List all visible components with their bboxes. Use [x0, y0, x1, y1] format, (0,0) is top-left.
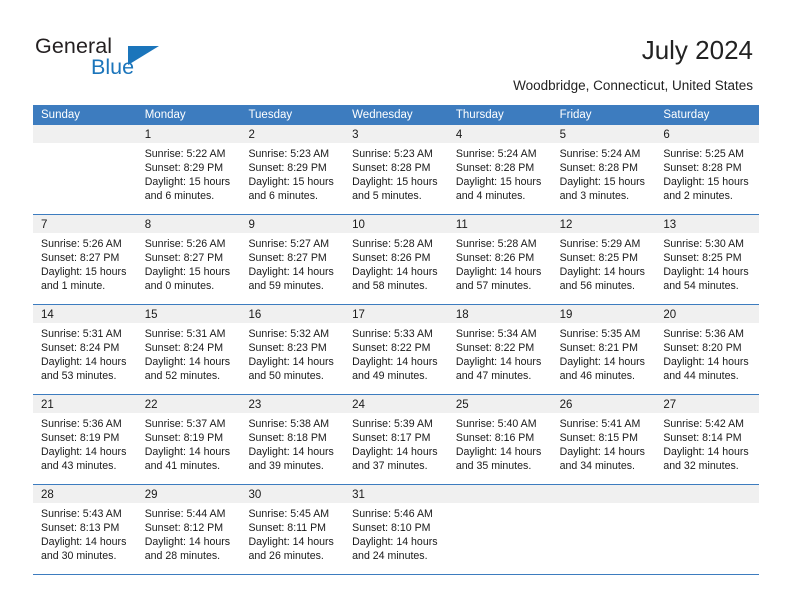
day-detail-line: Sunset: 8:22 PM [352, 341, 442, 355]
day-number: 10 [352, 219, 365, 231]
day-detail-line: and 46 minutes. [560, 369, 650, 383]
day-detail-line: Sunrise: 5:45 AM [248, 507, 338, 521]
day-number-strip: 14 [33, 305, 137, 323]
day-detail-line: and 0 minutes. [145, 279, 235, 293]
day-details: Sunrise: 5:37 AMSunset: 8:19 PMDaylight:… [137, 413, 241, 473]
day-number: 5 [560, 129, 566, 141]
day-details: Sunrise: 5:31 AMSunset: 8:24 PMDaylight:… [137, 323, 241, 383]
day-detail-line: Daylight: 14 hours [248, 265, 338, 279]
day-detail-line: Daylight: 14 hours [145, 535, 235, 549]
day-detail-line: Sunrise: 5:42 AM [663, 417, 753, 431]
day-details: Sunrise: 5:38 AMSunset: 8:18 PMDaylight:… [240, 413, 344, 473]
day-detail-line: Sunset: 8:18 PM [248, 431, 338, 445]
day-detail-line: and 41 minutes. [145, 459, 235, 473]
day-number-strip: 27 [655, 395, 759, 413]
day-details: Sunrise: 5:23 AMSunset: 8:29 PMDaylight:… [240, 143, 344, 203]
day-detail-line: Sunrise: 5:27 AM [248, 237, 338, 251]
day-detail-line: Daylight: 14 hours [560, 265, 650, 279]
calendar-week-row: 14Sunrise: 5:31 AMSunset: 8:24 PMDayligh… [33, 305, 759, 395]
calendar-day-cell[interactable]: 15Sunrise: 5:31 AMSunset: 8:24 PMDayligh… [137, 305, 241, 394]
day-number: 2 [248, 129, 254, 141]
day-details: Sunrise: 5:28 AMSunset: 8:26 PMDaylight:… [344, 233, 448, 293]
day-details: Sunrise: 5:43 AMSunset: 8:13 PMDaylight:… [33, 503, 137, 563]
calendar-day-cell[interactable]: 13Sunrise: 5:30 AMSunset: 8:25 PMDayligh… [655, 215, 759, 304]
day-number: 30 [248, 489, 261, 501]
day-detail-line: and 59 minutes. [248, 279, 338, 293]
calendar-day-cell[interactable]: 17Sunrise: 5:33 AMSunset: 8:22 PMDayligh… [344, 305, 448, 394]
day-detail-line: and 52 minutes. [145, 369, 235, 383]
day-details: Sunrise: 5:27 AMSunset: 8:27 PMDaylight:… [240, 233, 344, 293]
day-number-strip: 12 [552, 215, 656, 233]
day-detail-line: Sunset: 8:19 PM [145, 431, 235, 445]
day-detail-line: Sunrise: 5:41 AM [560, 417, 650, 431]
day-detail-line: Sunrise: 5:35 AM [560, 327, 650, 341]
day-number: 18 [456, 309, 469, 321]
calendar-day-cell[interactable]: 16Sunrise: 5:32 AMSunset: 8:23 PMDayligh… [240, 305, 344, 394]
day-detail-line: Daylight: 14 hours [560, 445, 650, 459]
day-number-strip: 4 [448, 125, 552, 143]
day-details: Sunrise: 5:26 AMSunset: 8:27 PMDaylight:… [137, 233, 241, 293]
day-detail-line: Daylight: 14 hours [248, 535, 338, 549]
day-detail-line: Daylight: 14 hours [663, 445, 753, 459]
day-details: Sunrise: 5:36 AMSunset: 8:20 PMDaylight:… [655, 323, 759, 383]
day-number-strip: 24 [344, 395, 448, 413]
day-details: Sunrise: 5:39 AMSunset: 8:17 PMDaylight:… [344, 413, 448, 473]
day-details: Sunrise: 5:46 AMSunset: 8:10 PMDaylight:… [344, 503, 448, 563]
day-number: 8 [145, 219, 151, 231]
day-detail-line: and 6 minutes. [145, 189, 235, 203]
calendar-day-cell[interactable]: 8Sunrise: 5:26 AMSunset: 8:27 PMDaylight… [137, 215, 241, 304]
calendar-week-row: 7Sunrise: 5:26 AMSunset: 8:27 PMDaylight… [33, 215, 759, 305]
day-number-strip: 28 [33, 485, 137, 503]
day-details: Sunrise: 5:31 AMSunset: 8:24 PMDaylight:… [33, 323, 137, 383]
day-detail-line: Sunset: 8:23 PM [248, 341, 338, 355]
day-detail-line: Daylight: 15 hours [560, 175, 650, 189]
calendar-day-cell[interactable]: 10Sunrise: 5:28 AMSunset: 8:26 PMDayligh… [344, 215, 448, 304]
day-number-strip: 15 [137, 305, 241, 323]
day-details: Sunrise: 5:22 AMSunset: 8:29 PMDaylight:… [137, 143, 241, 203]
calendar-day-cell[interactable]: 18Sunrise: 5:34 AMSunset: 8:22 PMDayligh… [448, 305, 552, 394]
day-detail-line: Sunrise: 5:37 AM [145, 417, 235, 431]
day-detail-line: and 56 minutes. [560, 279, 650, 293]
day-detail-line: Sunrise: 5:44 AM [145, 507, 235, 521]
day-detail-line: and 3 minutes. [560, 189, 650, 203]
day-detail-line: Sunrise: 5:24 AM [456, 147, 546, 161]
day-detail-line: Sunrise: 5:29 AM [560, 237, 650, 251]
calendar-day-cell[interactable]: 2Sunrise: 5:23 AMSunset: 8:29 PMDaylight… [240, 125, 344, 214]
day-detail-line: Daylight: 14 hours [145, 355, 235, 369]
day-detail-line: Sunset: 8:28 PM [456, 161, 546, 175]
day-number: 14 [41, 309, 54, 321]
day-number-strip: 3 [344, 125, 448, 143]
day-detail-line: Sunset: 8:26 PM [352, 251, 442, 265]
day-detail-line: Sunset: 8:19 PM [41, 431, 131, 445]
day-detail-line: Sunrise: 5:36 AM [41, 417, 131, 431]
day-number-strip: 19 [552, 305, 656, 323]
calendar-weeks: 1Sunrise: 5:22 AMSunset: 8:29 PMDaylight… [33, 125, 759, 575]
calendar-day-cell[interactable]: 21Sunrise: 5:36 AMSunset: 8:19 PMDayligh… [33, 395, 137, 484]
day-number: 23 [248, 399, 261, 411]
day-details: Sunrise: 5:36 AMSunset: 8:19 PMDaylight:… [33, 413, 137, 473]
day-detail-line: and 32 minutes. [663, 459, 753, 473]
day-detail-line: Sunset: 8:28 PM [352, 161, 442, 175]
day-detail-line: Sunset: 8:25 PM [663, 251, 753, 265]
calendar-week-row: 28Sunrise: 5:43 AMSunset: 8:13 PMDayligh… [33, 485, 759, 575]
day-number-strip: 2 [240, 125, 344, 143]
day-number: 11 [456, 219, 468, 231]
day-detail-line: Sunrise: 5:36 AM [663, 327, 753, 341]
weekday-header-monday: Monday [137, 105, 241, 125]
day-detail-line: Sunset: 8:10 PM [352, 521, 442, 535]
calendar-day-cell[interactable]: 11Sunrise: 5:28 AMSunset: 8:26 PMDayligh… [448, 215, 552, 304]
day-number: 31 [352, 489, 365, 501]
day-detail-line: and 58 minutes. [352, 279, 442, 293]
day-detail-line: Sunrise: 5:40 AM [456, 417, 546, 431]
day-details: Sunrise: 5:42 AMSunset: 8:14 PMDaylight:… [655, 413, 759, 473]
day-number: 13 [663, 219, 676, 231]
day-details: Sunrise: 5:41 AMSunset: 8:15 PMDaylight:… [552, 413, 656, 473]
day-number: 20 [663, 309, 676, 321]
day-details: Sunrise: 5:24 AMSunset: 8:28 PMDaylight:… [552, 143, 656, 203]
day-number-strip: 21 [33, 395, 137, 413]
day-number: 26 [560, 399, 573, 411]
calendar-day-cell[interactable]: 3Sunrise: 5:23 AMSunset: 8:28 PMDaylight… [344, 125, 448, 214]
calendar-day-cell[interactable]: 27Sunrise: 5:42 AMSunset: 8:14 PMDayligh… [655, 395, 759, 484]
day-number-strip: 18 [448, 305, 552, 323]
location-subtitle: Woodbridge, Connecticut, United States [513, 78, 753, 93]
day-details [655, 503, 759, 507]
day-detail-line: Sunset: 8:29 PM [145, 161, 235, 175]
day-number: 4 [456, 129, 462, 141]
day-number: 28 [41, 489, 54, 501]
calendar-day-cell[interactable]: 20Sunrise: 5:36 AMSunset: 8:20 PMDayligh… [655, 305, 759, 394]
day-number-strip [33, 125, 137, 143]
day-detail-line: Sunset: 8:16 PM [456, 431, 546, 445]
calendar-day-cell-empty [655, 485, 759, 574]
day-number-strip: 23 [240, 395, 344, 413]
weekday-header-wednesday: Wednesday [344, 105, 448, 125]
calendar-day-cell-empty [33, 125, 137, 214]
day-number-strip: 17 [344, 305, 448, 323]
day-number: 9 [248, 219, 254, 231]
day-detail-line: Sunset: 8:13 PM [41, 521, 131, 535]
day-detail-line: Daylight: 14 hours [456, 445, 546, 459]
day-detail-line: Sunrise: 5:24 AM [560, 147, 650, 161]
day-number-strip [552, 485, 656, 503]
day-detail-line: Daylight: 14 hours [456, 265, 546, 279]
day-number-strip: 1 [137, 125, 241, 143]
day-detail-line: Daylight: 14 hours [248, 445, 338, 459]
day-detail-line: Sunrise: 5:26 AM [145, 237, 235, 251]
day-detail-line: Sunrise: 5:31 AM [145, 327, 235, 341]
day-detail-line: Sunrise: 5:46 AM [352, 507, 442, 521]
calendar-week-row: 21Sunrise: 5:36 AMSunset: 8:19 PMDayligh… [33, 395, 759, 485]
day-number-strip: 7 [33, 215, 137, 233]
day-number-strip: 30 [240, 485, 344, 503]
day-detail-line: Sunrise: 5:25 AM [663, 147, 753, 161]
day-detail-line: Sunset: 8:25 PM [560, 251, 650, 265]
day-number-strip: 13 [655, 215, 759, 233]
day-detail-line: Sunset: 8:14 PM [663, 431, 753, 445]
calendar-day-cell[interactable]: 23Sunrise: 5:38 AMSunset: 8:18 PMDayligh… [240, 395, 344, 484]
logo-text-blue: Blue [91, 55, 134, 80]
day-detail-line: Daylight: 14 hours [145, 445, 235, 459]
weekday-header-thursday: Thursday [448, 105, 552, 125]
day-detail-line: Sunset: 8:26 PM [456, 251, 546, 265]
calendar-day-cell[interactable]: 30Sunrise: 5:45 AMSunset: 8:11 PMDayligh… [240, 485, 344, 574]
day-details: Sunrise: 5:44 AMSunset: 8:12 PMDaylight:… [137, 503, 241, 563]
day-details [552, 503, 656, 507]
day-number-strip: 11 [448, 215, 552, 233]
day-detail-line: Daylight: 15 hours [145, 175, 235, 189]
day-detail-line: Daylight: 14 hours [352, 265, 442, 279]
day-detail-line: Sunrise: 5:22 AM [145, 147, 235, 161]
day-detail-line: Sunset: 8:12 PM [145, 521, 235, 535]
calendar-day-cell[interactable]: 26Sunrise: 5:41 AMSunset: 8:15 PMDayligh… [552, 395, 656, 484]
weekday-header-friday: Friday [552, 105, 656, 125]
day-number: 17 [352, 309, 365, 321]
day-detail-line: and 39 minutes. [248, 459, 338, 473]
day-details: Sunrise: 5:34 AMSunset: 8:22 PMDaylight:… [448, 323, 552, 383]
day-details: Sunrise: 5:24 AMSunset: 8:28 PMDaylight:… [448, 143, 552, 203]
day-number: 3 [352, 129, 358, 141]
day-number: 7 [41, 219, 47, 231]
day-number-strip [655, 485, 759, 503]
day-details [448, 503, 552, 507]
day-detail-line: and 50 minutes. [248, 369, 338, 383]
page-title: July 2024 [642, 35, 753, 66]
day-detail-line: Daylight: 14 hours [41, 355, 131, 369]
day-number: 25 [456, 399, 469, 411]
day-detail-line: and 53 minutes. [41, 369, 131, 383]
day-detail-line: Sunrise: 5:26 AM [41, 237, 131, 251]
calendar-day-cell[interactable]: 9Sunrise: 5:27 AMSunset: 8:27 PMDaylight… [240, 215, 344, 304]
logo[interactable]: General Blue [35, 34, 215, 86]
calendar-day-cell[interactable]: 29Sunrise: 5:44 AMSunset: 8:12 PMDayligh… [137, 485, 241, 574]
day-detail-line: and 30 minutes. [41, 549, 131, 563]
day-number: 1 [145, 129, 151, 141]
day-detail-line: Sunrise: 5:33 AM [352, 327, 442, 341]
day-detail-line: Daylight: 15 hours [248, 175, 338, 189]
day-details: Sunrise: 5:30 AMSunset: 8:25 PMDaylight:… [655, 233, 759, 293]
day-details: Sunrise: 5:28 AMSunset: 8:26 PMDaylight:… [448, 233, 552, 293]
day-detail-line: Daylight: 14 hours [41, 445, 131, 459]
calendar-day-cell[interactable]: 24Sunrise: 5:39 AMSunset: 8:17 PMDayligh… [344, 395, 448, 484]
weekday-header-tuesday: Tuesday [240, 105, 344, 125]
weekday-header-sunday: Sunday [33, 105, 137, 125]
day-number-strip: 29 [137, 485, 241, 503]
day-detail-line: and 44 minutes. [663, 369, 753, 383]
day-number-strip [448, 485, 552, 503]
day-number: 27 [663, 399, 676, 411]
day-number: 21 [41, 399, 54, 411]
calendar-day-cell[interactable]: 7Sunrise: 5:26 AMSunset: 8:27 PMDaylight… [33, 215, 137, 304]
day-detail-line: Daylight: 15 hours [145, 265, 235, 279]
day-number: 16 [248, 309, 261, 321]
calendar-grid: SundayMondayTuesdayWednesdayThursdayFrid… [33, 105, 759, 575]
calendar-day-cell[interactable]: 28Sunrise: 5:43 AMSunset: 8:13 PMDayligh… [33, 485, 137, 574]
day-detail-line: Sunrise: 5:30 AM [663, 237, 753, 251]
day-number: 12 [560, 219, 573, 231]
day-detail-line: Daylight: 14 hours [456, 355, 546, 369]
day-number-strip: 16 [240, 305, 344, 323]
day-number-strip: 6 [655, 125, 759, 143]
day-number-strip: 8 [137, 215, 241, 233]
day-number-strip: 22 [137, 395, 241, 413]
day-detail-line: Sunset: 8:17 PM [352, 431, 442, 445]
day-detail-line: Daylight: 15 hours [352, 175, 442, 189]
day-details: Sunrise: 5:23 AMSunset: 8:28 PMDaylight:… [344, 143, 448, 203]
day-detail-line: and 37 minutes. [352, 459, 442, 473]
calendar-day-cell-empty [552, 485, 656, 574]
page-header: General Blue July 2024 Woodbridge, Conne… [0, 0, 792, 100]
calendar-day-cell[interactable]: 22Sunrise: 5:37 AMSunset: 8:19 PMDayligh… [137, 395, 241, 484]
weekday-header-saturday: Saturday [655, 105, 759, 125]
day-detail-line: Daylight: 14 hours [560, 355, 650, 369]
calendar-day-cell[interactable]: 31Sunrise: 5:46 AMSunset: 8:10 PMDayligh… [344, 485, 448, 574]
day-detail-line: Daylight: 14 hours [663, 355, 753, 369]
calendar-day-cell[interactable]: 25Sunrise: 5:40 AMSunset: 8:16 PMDayligh… [448, 395, 552, 484]
day-details: Sunrise: 5:40 AMSunset: 8:16 PMDaylight:… [448, 413, 552, 473]
day-number: 22 [145, 399, 158, 411]
calendar-day-cell[interactable]: 4Sunrise: 5:24 AMSunset: 8:28 PMDaylight… [448, 125, 552, 214]
day-detail-line: Sunset: 8:20 PM [663, 341, 753, 355]
day-detail-line: and 4 minutes. [456, 189, 546, 203]
day-detail-line: Sunrise: 5:31 AM [41, 327, 131, 341]
day-details: Sunrise: 5:45 AMSunset: 8:11 PMDaylight:… [240, 503, 344, 563]
day-detail-line: Daylight: 14 hours [248, 355, 338, 369]
day-detail-line: Daylight: 14 hours [352, 535, 442, 549]
calendar-day-cell[interactable]: 1Sunrise: 5:22 AMSunset: 8:29 PMDaylight… [137, 125, 241, 214]
day-detail-line: Sunset: 8:24 PM [41, 341, 131, 355]
day-details: Sunrise: 5:25 AMSunset: 8:28 PMDaylight:… [655, 143, 759, 203]
day-detail-line: Sunset: 8:11 PM [248, 521, 338, 535]
weekday-header-row: SundayMondayTuesdayWednesdayThursdayFrid… [33, 105, 759, 125]
day-number-strip: 20 [655, 305, 759, 323]
day-number: 15 [145, 309, 158, 321]
calendar-page: General Blue July 2024 Woodbridge, Conne… [0, 0, 792, 612]
day-detail-line: Sunset: 8:24 PM [145, 341, 235, 355]
day-detail-line: Sunset: 8:28 PM [663, 161, 753, 175]
day-detail-line: Daylight: 14 hours [352, 355, 442, 369]
day-detail-line: and 26 minutes. [248, 549, 338, 563]
calendar-day-cell-empty [448, 485, 552, 574]
day-detail-line: and 35 minutes. [456, 459, 546, 473]
day-detail-line: Daylight: 15 hours [456, 175, 546, 189]
calendar-day-cell[interactable]: 19Sunrise: 5:35 AMSunset: 8:21 PMDayligh… [552, 305, 656, 394]
day-detail-line: Sunrise: 5:28 AM [456, 237, 546, 251]
day-detail-line: Sunset: 8:28 PM [560, 161, 650, 175]
day-detail-line: and 28 minutes. [145, 549, 235, 563]
day-detail-line: Sunset: 8:27 PM [248, 251, 338, 265]
day-detail-line: and 6 minutes. [248, 189, 338, 203]
day-number: 24 [352, 399, 365, 411]
day-details [33, 143, 137, 147]
day-number: 6 [663, 129, 669, 141]
day-detail-line: Sunrise: 5:43 AM [41, 507, 131, 521]
day-detail-line: Sunrise: 5:28 AM [352, 237, 442, 251]
day-detail-line: and 57 minutes. [456, 279, 546, 293]
day-detail-line: Sunrise: 5:23 AM [352, 147, 442, 161]
day-detail-line: Sunset: 8:29 PM [248, 161, 338, 175]
day-detail-line: Sunrise: 5:32 AM [248, 327, 338, 341]
day-detail-line: and 47 minutes. [456, 369, 546, 383]
day-detail-line: Daylight: 15 hours [41, 265, 131, 279]
day-detail-line: Daylight: 14 hours [352, 445, 442, 459]
day-number-strip: 25 [448, 395, 552, 413]
calendar-day-cell[interactable]: 6Sunrise: 5:25 AMSunset: 8:28 PMDaylight… [655, 125, 759, 214]
calendar-day-cell[interactable]: 5Sunrise: 5:24 AMSunset: 8:28 PMDaylight… [552, 125, 656, 214]
day-detail-line: Sunset: 8:21 PM [560, 341, 650, 355]
day-details: Sunrise: 5:32 AMSunset: 8:23 PMDaylight:… [240, 323, 344, 383]
day-detail-line: and 54 minutes. [663, 279, 753, 293]
day-detail-line: and 1 minute. [41, 279, 131, 293]
day-detail-line: Daylight: 14 hours [41, 535, 131, 549]
day-detail-line: and 24 minutes. [352, 549, 442, 563]
calendar-week-row: 1Sunrise: 5:22 AMSunset: 8:29 PMDaylight… [33, 125, 759, 215]
day-number-strip: 10 [344, 215, 448, 233]
day-detail-line: Sunset: 8:15 PM [560, 431, 650, 445]
day-details: Sunrise: 5:35 AMSunset: 8:21 PMDaylight:… [552, 323, 656, 383]
day-number-strip: 5 [552, 125, 656, 143]
day-details: Sunrise: 5:33 AMSunset: 8:22 PMDaylight:… [344, 323, 448, 383]
day-detail-line: Sunrise: 5:38 AM [248, 417, 338, 431]
day-number-strip: 31 [344, 485, 448, 503]
calendar-day-cell[interactable]: 14Sunrise: 5:31 AMSunset: 8:24 PMDayligh… [33, 305, 137, 394]
day-detail-line: and 34 minutes. [560, 459, 650, 473]
day-detail-line: and 5 minutes. [352, 189, 442, 203]
day-detail-line: Sunset: 8:22 PM [456, 341, 546, 355]
day-detail-line: Sunset: 8:27 PM [145, 251, 235, 265]
day-detail-line: and 2 minutes. [663, 189, 753, 203]
calendar-day-cell[interactable]: 12Sunrise: 5:29 AMSunset: 8:25 PMDayligh… [552, 215, 656, 304]
day-number: 29 [145, 489, 158, 501]
day-detail-line: Daylight: 15 hours [663, 175, 753, 189]
day-detail-line: Sunrise: 5:39 AM [352, 417, 442, 431]
day-detail-line: Daylight: 14 hours [663, 265, 753, 279]
day-detail-line: Sunset: 8:27 PM [41, 251, 131, 265]
day-number: 19 [560, 309, 573, 321]
day-details: Sunrise: 5:26 AMSunset: 8:27 PMDaylight:… [33, 233, 137, 293]
day-detail-line: and 43 minutes. [41, 459, 131, 473]
day-number-strip: 9 [240, 215, 344, 233]
day-detail-line: Sunrise: 5:23 AM [248, 147, 338, 161]
day-number-strip: 26 [552, 395, 656, 413]
day-detail-line: Sunrise: 5:34 AM [456, 327, 546, 341]
day-detail-line: and 49 minutes. [352, 369, 442, 383]
day-details: Sunrise: 5:29 AMSunset: 8:25 PMDaylight:… [552, 233, 656, 293]
